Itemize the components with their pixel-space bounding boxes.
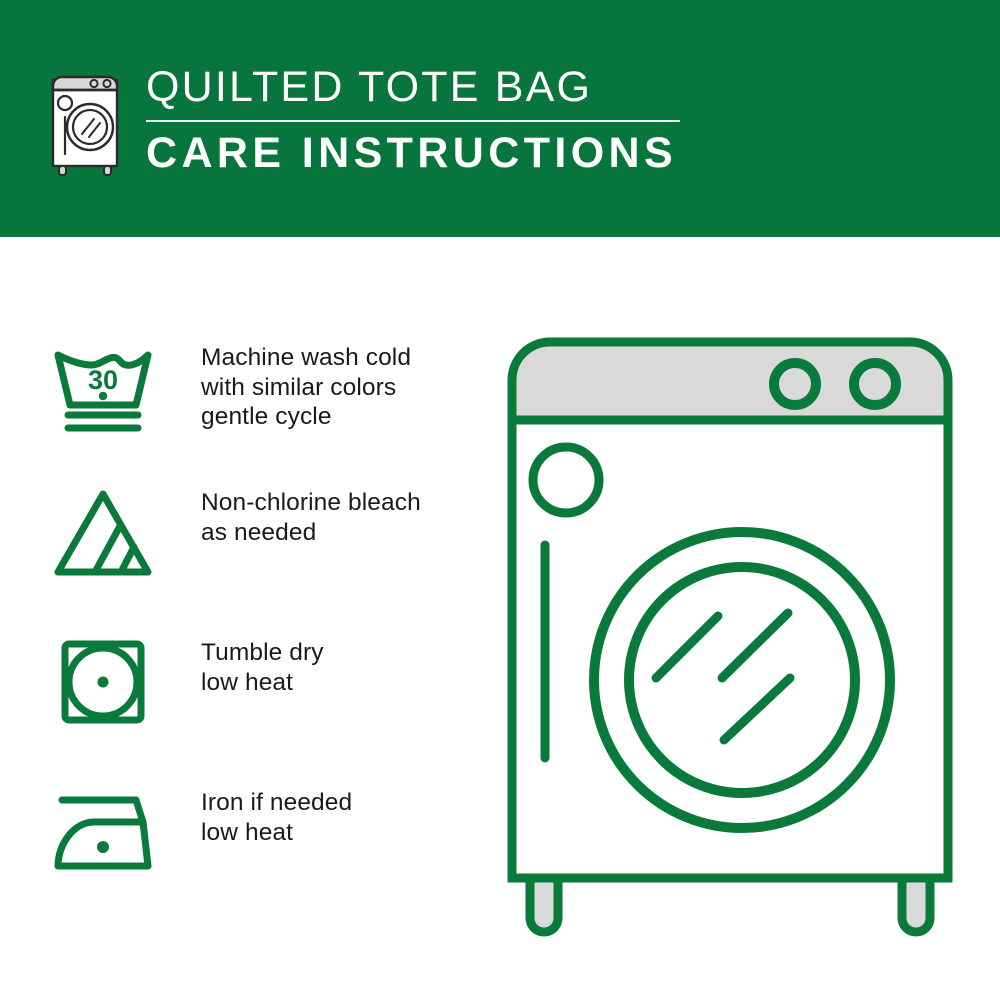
care-label-line: Non-chlorine bleach (201, 488, 421, 518)
header-text-block: QUILTED TOTE BAG CARE INSTRUCTIONS (146, 62, 746, 178)
page-title: QUILTED TOTE BAG (146, 62, 746, 112)
care-row-iron: Iron if needed low heat (0, 782, 480, 882)
front-load-washing-machine-illustration (490, 300, 990, 950)
care-label-line: low heat (201, 668, 324, 698)
title-divider (146, 120, 680, 122)
care-label-line: Iron if needed (201, 788, 352, 818)
care-instructions-infographic: QUILTED TOTE BAG CARE INSTRUCTIONS 30 Ma… (0, 0, 1000, 1000)
page-subtitle: CARE INSTRUCTIONS (146, 128, 746, 178)
washing-machine-icon (44, 66, 130, 176)
foot-right (902, 878, 930, 932)
care-label-line: as needed (201, 518, 421, 548)
header-banner: QUILTED TOTE BAG CARE INSTRUCTIONS (0, 0, 1000, 237)
care-instruction-list: 30 Machine wash cold with similar colors… (0, 237, 490, 1000)
care-label-iron: Iron if needed low heat (201, 782, 352, 847)
care-label-tumble-dry: Tumble dry low heat (201, 632, 324, 697)
care-row-bleach: Non-chlorine bleach as needed (0, 482, 480, 582)
care-label-line: Tumble dry (201, 638, 324, 668)
care-label-line: with similar colors (201, 373, 411, 403)
care-row-wash: 30 Machine wash cold with similar colors… (0, 337, 480, 437)
care-row-tumble-dry: Tumble dry low heat (0, 632, 480, 732)
wash-tub-30-gentle-icon: 30 (48, 337, 158, 437)
care-label-line: gentle cycle (201, 402, 411, 432)
wash-temperature-value: 30 (88, 365, 118, 395)
care-label-bleach: Non-chlorine bleach as needed (201, 482, 421, 547)
care-label-line: low heat (201, 818, 352, 848)
care-label-wash: Machine wash cold with similar colors ge… (201, 337, 411, 432)
non-chlorine-bleach-triangle-icon (48, 482, 158, 582)
foot-left (530, 878, 558, 932)
care-label-line: Machine wash cold (201, 343, 411, 373)
tumble-dry-low-heat-icon (48, 632, 158, 732)
iron-low-heat-icon (48, 782, 158, 882)
